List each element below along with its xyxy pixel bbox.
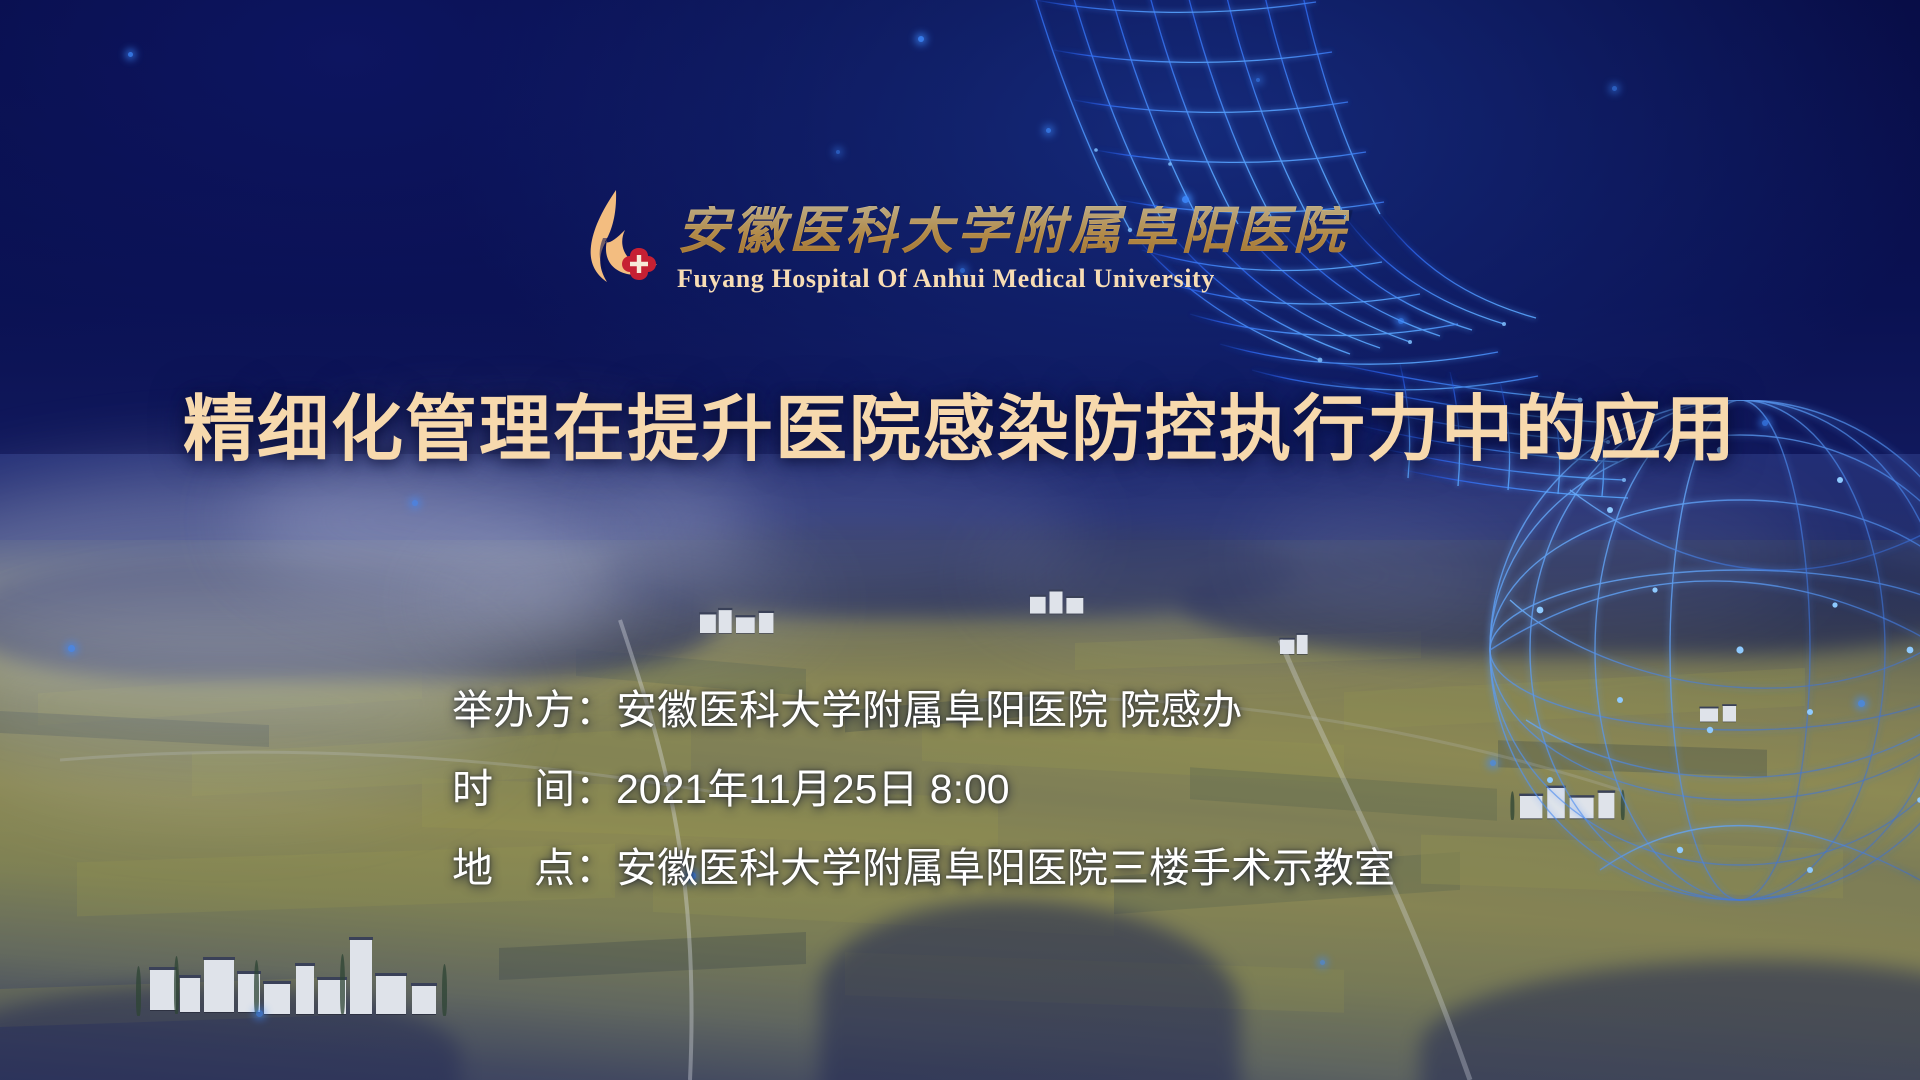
logo-text-block: 安徽医科大学附属阜阳医院 Fuyang Hospital Of Anhui Me… bbox=[677, 186, 1349, 298]
presentation-slide: 安徽医科大学附属阜阳医院 Fuyang Hospital Of Anhui Me… bbox=[0, 0, 1920, 1080]
info-line-venue: 地 点：安徽医科大学附属阜阳医院三楼手术示教室 bbox=[452, 848, 1395, 889]
event-info-block: 举办方：安徽医科大学附属阜阳医院 院感办 时 间：2021年11月25日 8:0… bbox=[452, 690, 1395, 889]
hospital-name-english: Fuyang Hospital Of Anhui Medical Univers… bbox=[677, 264, 1349, 294]
phoenix-flame-medical-cross-icon bbox=[571, 186, 667, 294]
info-line-organizer: 举办方：安徽医科大学附属阜阳医院 院感办 bbox=[452, 690, 1395, 731]
hospital-logo: 安徽医科大学附属阜阳医院 Fuyang Hospital Of Anhui Me… bbox=[0, 186, 1920, 298]
page-title: 精细化管理在提升医院感染防控执行力中的应用 bbox=[0, 370, 1920, 475]
hospital-name-chinese: 安徽医科大学附属阜阳医院 bbox=[677, 206, 1349, 258]
info-line-time: 时 间：2021年11月25日 8:00 bbox=[452, 769, 1395, 810]
slide-content: 安徽医科大学附属阜阳医院 Fuyang Hospital Of Anhui Me… bbox=[0, 0, 1920, 1080]
